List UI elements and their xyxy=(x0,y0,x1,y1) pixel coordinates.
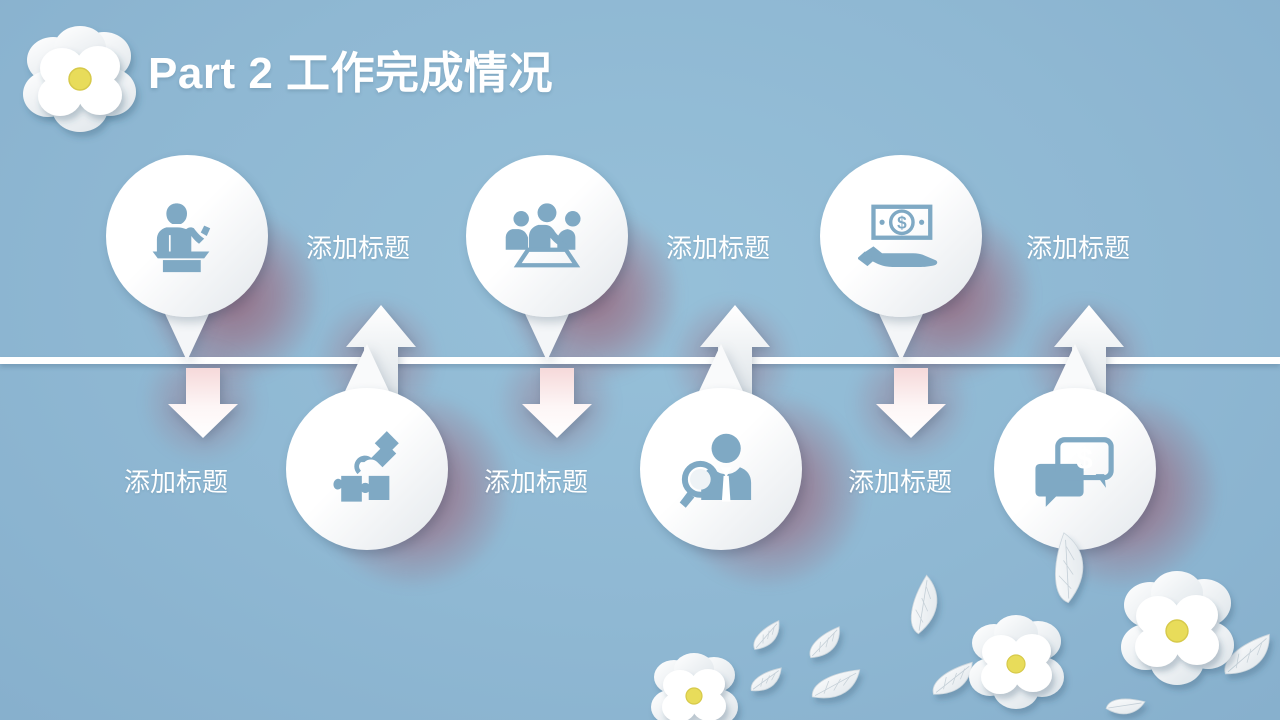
label-bottom-3: 添加标题 xyxy=(484,462,588,499)
hand-puzzle-icon xyxy=(286,388,448,550)
meeting-table-icon xyxy=(466,155,628,317)
paper-flower-icon xyxy=(969,615,1064,709)
label-bottom-1: 添加标题 xyxy=(124,462,228,499)
pin-top-2[interactable] xyxy=(466,155,628,360)
svg-text:$: $ xyxy=(897,212,907,232)
pin-top-3[interactable]: $ xyxy=(820,155,982,360)
svg-text:$: $ xyxy=(1076,444,1092,476)
pin-bottom-1[interactable] xyxy=(286,345,448,550)
down-arrow-3 xyxy=(874,368,948,440)
page-title: Part 2 工作完成情况 xyxy=(148,52,553,96)
person-magnifier-icon xyxy=(640,388,802,550)
paper-flower-icon xyxy=(651,653,738,720)
leaf-icon xyxy=(810,670,862,700)
speaker-podium-icon xyxy=(106,155,268,317)
paper-flower-icon xyxy=(1121,571,1234,685)
down-arrow-2 xyxy=(520,368,594,440)
pin-top-1[interactable] xyxy=(106,155,268,360)
slide-canvas: Part 2 工作完成情况 添加标题 xyxy=(0,0,1280,720)
bottom-decoration-group xyxy=(640,575,1280,720)
pin-bottom-2[interactable] xyxy=(640,345,802,550)
leaf-icon xyxy=(804,627,847,660)
leaf-icon xyxy=(898,575,950,635)
hand-money-icon: $ xyxy=(820,155,982,317)
label-top-3: 添加标题 xyxy=(1026,228,1130,265)
leaf-icon xyxy=(1218,634,1278,677)
leaf-icon xyxy=(928,662,978,696)
corner-flower-icon xyxy=(18,12,143,137)
leaf-icon xyxy=(748,668,785,692)
chat-dollar-icon: $ xyxy=(994,388,1156,550)
leaf-icon xyxy=(1106,693,1145,719)
label-top-2: 添加标题 xyxy=(666,228,770,265)
pin-bottom-3[interactable]: $ xyxy=(994,345,1156,550)
down-arrow-1 xyxy=(166,368,240,440)
label-top-1: 添加标题 xyxy=(306,228,410,265)
title-bar: Part 2 工作完成情况 xyxy=(0,0,1280,140)
leaf-icon xyxy=(748,621,786,651)
label-bottom-2: 添加标题 xyxy=(848,462,952,499)
